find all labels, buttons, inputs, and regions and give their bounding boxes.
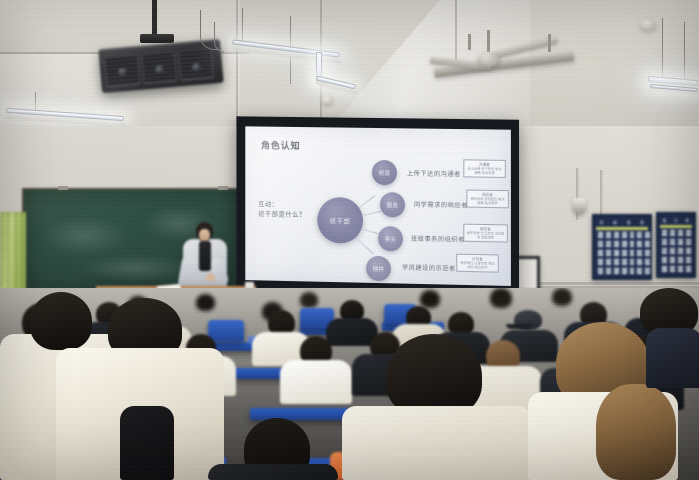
wallboard-left: 班 级 课 表 01020304050607080910111213141516… — [592, 214, 652, 280]
wall-pipe — [600, 170, 603, 218]
projection-screen: 角色认知 互动： 班干部是什么？ 班干部 桥梁 上传下达的沟通者 沟通者 向上反… — [236, 116, 519, 296]
wallboard-cell: 16 — [605, 249, 612, 257]
wallboard-cell: 20 — [636, 249, 643, 257]
wallboard-cell: 29 — [597, 267, 604, 275]
wallboard-right: 值 日 表 0102030405060708091011121314151617… — [656, 212, 696, 278]
security-camera-icon — [573, 198, 586, 214]
wallboard-cell: 15 — [597, 249, 604, 257]
slide-title: 角色认知 — [261, 138, 300, 151]
wallboard-cell: 21 — [644, 249, 651, 257]
wallboard-cell: 18 — [621, 249, 628, 257]
wallboard-cell: 04 — [621, 231, 628, 239]
wallboard-cell: 01 — [597, 231, 604, 239]
wallboard-cell: 11 — [677, 247, 684, 255]
wallboard-cell: 01 — [661, 229, 668, 237]
wallboard-cell: 03 — [613, 231, 620, 239]
wallboard-left-header: 班 级 课 表 — [596, 218, 648, 227]
wallboard-cell: 15 — [677, 256, 684, 264]
wallboard-cell: 02 — [669, 229, 676, 237]
slide-note-4: 示范者 勤学笃行 以身作则 带动学风 树立标杆 — [456, 254, 498, 273]
wallboard-cell: 19 — [629, 249, 636, 257]
slide-center-bubble: 班干部 — [317, 197, 363, 244]
wallboard-cell: 26 — [629, 258, 636, 266]
smoke-detector-icon — [322, 96, 333, 104]
slide-note-3-text: 统筹安排 分工协作 活动落地 班级凝聚 — [466, 231, 504, 240]
wallboard-cell: 10 — [613, 240, 620, 248]
slide-role-bubble-4: 榜样 — [366, 256, 391, 282]
ceiling-dome-icon — [640, 20, 656, 30]
wallboard-cell: 27 — [636, 258, 643, 266]
wallboard-cell: 06 — [669, 238, 676, 246]
wallboard-cell: 08 — [597, 240, 604, 248]
wallboard-cell: 33 — [629, 267, 636, 275]
wallboard-cell: 16 — [685, 256, 692, 264]
wallboard-cell: 08 — [685, 238, 692, 246]
wallboard-cell: 28 — [644, 258, 651, 266]
wallboard-right-header: 值 日 表 — [660, 216, 692, 225]
slide-role-label-1: 上传下达的沟通者 — [407, 168, 461, 178]
wallboard-cell: 14 — [644, 240, 651, 248]
wallboard-cell: 09 — [605, 240, 612, 248]
slide-role-label-3: 班级事务的组织者 — [411, 234, 465, 244]
slide-note-2: 响应者 倾听诉求 及时回应 解决困难 贴近同学 — [466, 189, 509, 208]
slide-note-1-text: 向上反馈 向下传达 信息通畅 双向沟通 — [466, 166, 502, 175]
wallboard-cell: 12 — [629, 240, 636, 248]
wallboard-cell: 17 — [661, 265, 668, 273]
wallboard-cell: 12 — [685, 247, 692, 255]
wallboard-cell: 05 — [629, 231, 636, 239]
wallboard-cell: 25 — [621, 258, 628, 266]
audience-area — [0, 288, 699, 480]
wallboard-cell: 04 — [685, 229, 692, 237]
wallboard-cell: 13 — [636, 240, 643, 248]
slide-surface: 角色认知 互动： 班干部是什么？ 班干部 桥梁 上传下达的沟通者 沟通者 向上反… — [245, 126, 511, 286]
wallboard-cell: 22 — [597, 258, 604, 266]
wallboard-cell: 32 — [621, 267, 628, 275]
wallboard-cell: 05 — [661, 238, 668, 246]
wallboard-cell: 20 — [685, 265, 692, 273]
wallboard-cell: 31 — [613, 267, 620, 275]
wallboard-cell: 18 — [669, 265, 676, 273]
slide-note-2-text: 倾听诉求 及时回应 解决困难 贴近同学 — [469, 197, 505, 206]
board-clip — [58, 186, 68, 190]
wallboard-cell: 09 — [661, 247, 668, 255]
slide-role-bubble-3: 带头 — [378, 226, 403, 252]
slide-prompt: 互动： 班干部是什么？ — [258, 200, 306, 221]
wallboard-cell: 30 — [605, 267, 612, 275]
wallboard-cell: 19 — [677, 265, 684, 273]
slide-note-1: 沟通者 向上反馈 向下传达 信息通畅 双向沟通 — [463, 159, 505, 178]
slide-prompt-line2: 班干部是什么？ — [258, 210, 306, 221]
wallboard-cell: 24 — [613, 258, 620, 266]
board-clip — [218, 186, 228, 190]
wallboard-cell: 13 — [661, 256, 668, 264]
slide-role-bubble-1: 桥梁 — [372, 160, 397, 185]
classroom-photo: 班 级 课 表 01020304050607080910111213141516… — [0, 0, 699, 480]
wallboard-cell: 11 — [621, 240, 628, 248]
wallboard-cell: 07 — [677, 238, 684, 246]
wallboard-cell: 02 — [605, 231, 612, 239]
wallboard-cell: 35 — [644, 267, 651, 275]
wallboard-cell: 03 — [677, 229, 684, 237]
wallboard-cell: 06 — [636, 231, 643, 239]
wallboard-cell: 14 — [669, 256, 676, 264]
slide-role-label-4: 学风建设的示范者 — [402, 263, 456, 273]
slide-role-bubble-2: 服务 — [380, 192, 405, 217]
wallboard-cell: 23 — [605, 258, 612, 266]
wallboard-cell: 10 — [669, 247, 676, 255]
wallboard-cell: 17 — [613, 249, 620, 257]
slide-note-3: 组织者 统筹安排 分工协作 活动落地 班级凝聚 — [463, 224, 508, 243]
wallboard-cell: 34 — [636, 267, 643, 275]
wallboard-cell: 07 — [644, 231, 651, 239]
slide-role-label-2: 同学需求的响应者 — [414, 200, 468, 210]
slide-note-4-text: 勤学笃行 以身作则 带动学风 树立标杆 — [459, 261, 495, 270]
